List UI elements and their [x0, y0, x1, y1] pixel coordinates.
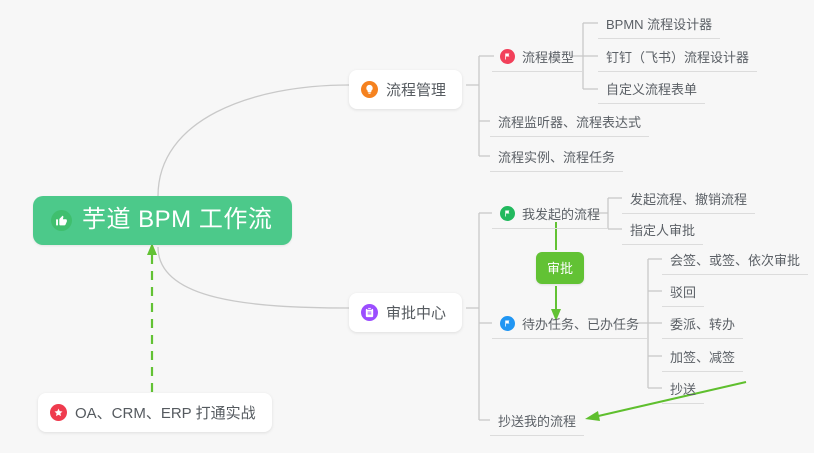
node-label: OA、CRM、ERP 打通实战 — [75, 402, 256, 423]
node-label: 驳回 — [670, 282, 696, 301]
branch-label: 流程管理 — [386, 79, 446, 100]
node-add-remove-sign[interactable]: 加签、减签 — [662, 343, 743, 372]
node-label: 待办任务、已办任务 — [522, 314, 639, 333]
approval-badge-label: 审批 — [547, 261, 573, 276]
node-listener-expression[interactable]: 流程监听器、流程表达式 — [490, 108, 649, 137]
node-label: 流程实例、流程任务 — [498, 147, 615, 166]
root-node[interactable]: 芋道 BPM 工作流 — [33, 196, 292, 245]
approval-badge[interactable]: 审批 — [536, 252, 584, 284]
node-label: BPMN 流程设计器 — [606, 14, 712, 33]
node-label: 钉钉（飞书）流程设计器 — [606, 47, 749, 66]
node-label: 流程模型 — [522, 47, 574, 66]
mindmap-canvas: 芋道 BPM 工作流 流程管理 流程模型 BPMN 流程设计器 钉钉（飞书）流程… — [0, 0, 814, 453]
node-process-model[interactable]: 流程模型 — [492, 43, 582, 72]
node-label: 自定义流程表单 — [606, 79, 697, 98]
node-reject[interactable]: 驳回 — [662, 278, 704, 307]
branch-label: 审批中心 — [386, 302, 446, 323]
root-label: 芋道 BPM 工作流 — [82, 208, 272, 232]
node-my-started-process[interactable]: 我发起的流程 — [492, 200, 608, 229]
branch-process-management[interactable]: 流程管理 — [349, 70, 462, 109]
node-label: 加签、减签 — [670, 347, 735, 366]
connector-root-to-approval-center — [158, 247, 349, 308]
node-label: 流程监听器、流程表达式 — [498, 112, 641, 131]
node-start-cancel-process[interactable]: 发起流程、撤销流程 — [622, 185, 755, 214]
node-assignee-approval[interactable]: 指定人审批 — [622, 216, 703, 245]
node-bpmn-designer[interactable]: BPMN 流程设计器 — [598, 10, 720, 39]
node-countersign[interactable]: 会签、或签、依次审批 — [662, 246, 808, 275]
node-carbon-copy[interactable]: 抄送 — [662, 375, 704, 404]
node-custom-process-form[interactable]: 自定义流程表单 — [598, 75, 705, 104]
flag-icon — [500, 49, 515, 64]
flag-icon — [500, 316, 515, 331]
lightbulb-icon — [361, 81, 378, 98]
dashed-arrow-to-root — [147, 243, 157, 392]
node-label: 委派、转办 — [670, 314, 735, 333]
node-dingtalk-feishu-designer[interactable]: 钉钉（飞书）流程设计器 — [598, 43, 757, 72]
node-cc-to-me-process[interactable]: 抄送我的流程 — [490, 407, 584, 436]
node-label: 我发起的流程 — [522, 204, 600, 223]
node-label: 抄送我的流程 — [498, 411, 576, 430]
connector-root-to-process-management — [158, 85, 349, 196]
node-instance-task[interactable]: 流程实例、流程任务 — [490, 143, 623, 172]
flag-icon — [500, 206, 515, 221]
branch-approval-center[interactable]: 审批中心 — [349, 293, 462, 332]
node-todo-done-tasks[interactable]: 待办任务、已办任务 — [492, 310, 647, 339]
star-icon — [50, 404, 67, 421]
thumbs-up-icon — [51, 210, 72, 231]
node-label: 抄送 — [670, 379, 696, 398]
node-label: 指定人审批 — [630, 220, 695, 239]
node-oa-crm-erp-integration[interactable]: OA、CRM、ERP 打通实战 — [38, 393, 272, 432]
clipboard-icon — [361, 304, 378, 321]
node-label: 发起流程、撤销流程 — [630, 189, 747, 208]
node-label: 会签、或签、依次审批 — [670, 250, 800, 269]
node-delegate-transfer[interactable]: 委派、转办 — [662, 310, 743, 339]
